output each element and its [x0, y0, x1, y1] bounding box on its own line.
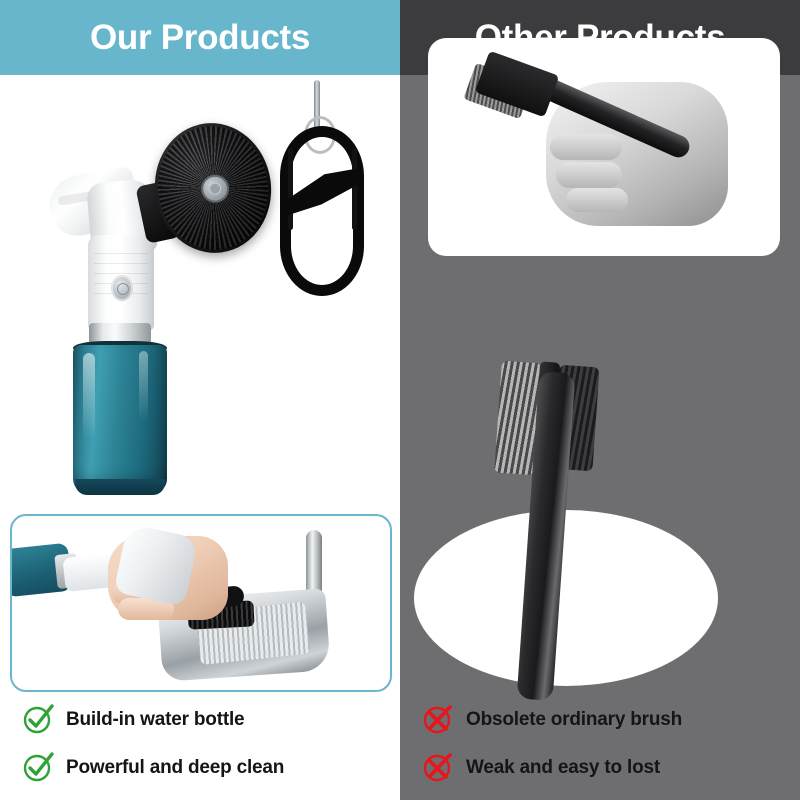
bullet-label: Obsolete ordinary brush — [466, 710, 682, 729]
bullet-row: Powerful and deep clean — [0, 743, 400, 791]
manual-brush-photo-card — [428, 38, 780, 256]
bullet-label: Build-in water bottle — [66, 710, 244, 729]
clip-gate-left — [288, 148, 293, 230]
other-products-panel: Other Products — [400, 0, 800, 800]
bullet-label: Powerful and deep clean — [66, 758, 284, 777]
bullet-row: Build-in water bottle — [0, 695, 400, 743]
our-products-title: Our Products — [90, 20, 310, 55]
bullet-row: Obsolete ordinary brush — [400, 695, 800, 743]
white-ellipse-backdrop — [414, 510, 718, 686]
carabiner-clip — [262, 80, 382, 320]
our-products-panel: Our Products — [0, 0, 400, 800]
other-products-bullets: Obsolete ordinary brush Weak and easy to… — [400, 695, 800, 791]
water-bottle — [73, 345, 167, 493]
bullet-row: Weak and easy to lost — [400, 743, 800, 791]
bullet-label: Weak and easy to lost — [466, 758, 660, 777]
power-button-icon — [111, 275, 133, 301]
comparison-infographic: Our Products — [0, 0, 800, 800]
electric-spin-brush-product — [55, 95, 285, 495]
usage-photo-frame — [10, 514, 392, 692]
our-products-header: Our Products — [0, 0, 400, 75]
cross-circle-icon — [422, 703, 454, 735]
bottle-base — [75, 479, 165, 495]
check-circle-icon — [22, 703, 54, 735]
check-circle-icon — [22, 751, 54, 783]
cross-circle-icon — [422, 751, 454, 783]
clip-gate-right — [352, 148, 357, 230]
our-products-bullets: Build-in water bottle Powerful and deep … — [0, 695, 400, 791]
